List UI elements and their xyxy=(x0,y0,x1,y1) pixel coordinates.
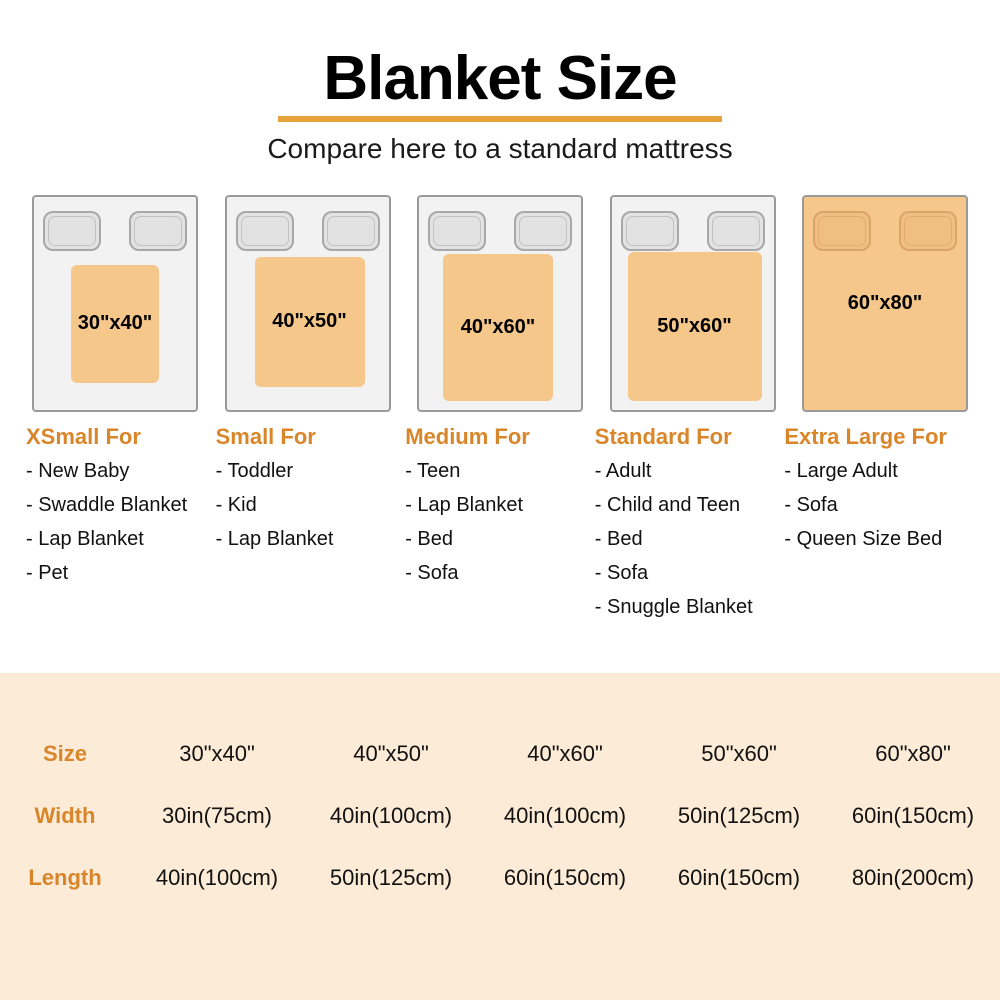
bed-column-extra-large: 60"x80" xyxy=(796,195,974,412)
table-row: Size 30"x40" 40"x50" 40"x60" 50"x60" 60"… xyxy=(0,723,1000,785)
table-row: Width 30in(75cm) 40in(100cm) 40in(100cm)… xyxy=(0,785,1000,847)
table-cell: 50in(125cm) xyxy=(304,847,478,909)
bed-column-medium: 40"x60" xyxy=(411,195,589,412)
description-column-extra-large: Extra Large For - Large Adult - Sofa - Q… xyxy=(784,424,974,630)
table-cell: 40in(100cm) xyxy=(130,847,304,909)
pillow-icon xyxy=(621,211,679,251)
list-item: - Snuggle Blanket xyxy=(595,596,785,619)
description-columns: XSmall For - New Baby - Swaddle Blanket … xyxy=(0,412,1000,630)
description-column-small: Small For - Toddler - Kid - Lap Blanket xyxy=(216,424,406,630)
pillow-icon xyxy=(514,211,572,251)
list-item: - Child and Teen xyxy=(595,494,785,517)
mattress-medium: 40"x60" xyxy=(417,195,583,412)
bed-column-xsmall: 30"x40" xyxy=(26,195,204,412)
pillow-icon xyxy=(236,211,294,251)
blanket-standard: 50"x60" xyxy=(628,252,762,401)
pillow-icon xyxy=(43,211,101,251)
table-cell: 60in(150cm) xyxy=(478,847,652,909)
row-label-size: Size xyxy=(0,723,130,785)
list-item: - Teen xyxy=(405,460,595,483)
list-item: - Lap Blanket xyxy=(216,528,406,551)
blanket-medium: 40"x60" xyxy=(443,254,553,401)
list-item: - Swaddle Blanket xyxy=(26,494,216,517)
column-heading: Medium For xyxy=(405,424,595,450)
mattress-extra-large: 60"x80" xyxy=(802,195,968,412)
pillow-icon xyxy=(707,211,765,251)
page-subtitle: Compare here to a standard mattress xyxy=(0,134,1000,165)
table-cell: 50in(125cm) xyxy=(652,785,826,847)
description-column-medium: Medium For - Teen - Lap Blanket - Bed - … xyxy=(405,424,595,630)
mattress-small: 40"x50" xyxy=(225,195,391,412)
blanket-size-label: 50"x60" xyxy=(657,315,732,338)
list-item: - Kid xyxy=(216,494,406,517)
list-item: - Large Adult xyxy=(784,460,974,483)
list-item: - Sofa xyxy=(405,562,595,585)
list-item: - Sofa xyxy=(784,494,974,517)
pillow-icon xyxy=(129,211,187,251)
list-item: - Sofa xyxy=(595,562,785,585)
table-cell: 30"x40" xyxy=(130,723,304,785)
spec-table: Size 30"x40" 40"x50" 40"x60" 50"x60" 60"… xyxy=(0,723,1000,909)
title-underline-rule xyxy=(278,116,722,122)
list-item: - Adult xyxy=(595,460,785,483)
column-heading: Standard For xyxy=(595,424,785,450)
spec-panel: Size 30"x40" 40"x50" 40"x60" 50"x60" 60"… xyxy=(0,673,1000,1000)
list-item: - Queen Size Bed xyxy=(784,528,974,551)
blanket-small: 40"x50" xyxy=(255,257,365,387)
list-item: - Lap Blanket xyxy=(26,528,216,551)
header: Blanket Size Compare here to a standard … xyxy=(0,0,1000,165)
pillow-icon xyxy=(322,211,380,251)
table-cell: 40in(100cm) xyxy=(304,785,478,847)
blanket-size-label: 30"x40" xyxy=(78,312,153,335)
table-cell: 60"x80" xyxy=(826,723,1000,785)
mattress-standard: 50"x60" xyxy=(610,195,776,412)
column-heading: Small For xyxy=(216,424,406,450)
table-cell: 40"x60" xyxy=(478,723,652,785)
table-row: Length 40in(100cm) 50in(125cm) 60in(150c… xyxy=(0,847,1000,909)
column-heading: Extra Large For xyxy=(784,424,974,450)
bed-column-standard: 50"x60" xyxy=(604,195,782,412)
table-cell: 80in(200cm) xyxy=(826,847,1000,909)
table-cell: 60in(150cm) xyxy=(652,847,826,909)
list-item: - New Baby xyxy=(26,460,216,483)
blanket-xsmall: 30"x40" xyxy=(71,265,159,383)
pillow-icon xyxy=(428,211,486,251)
list-item: - Lap Blanket xyxy=(405,494,595,517)
row-label-width: Width xyxy=(0,785,130,847)
description-column-xsmall: XSmall For - New Baby - Swaddle Blanket … xyxy=(26,424,216,630)
row-label-length: Length xyxy=(0,847,130,909)
list-item: - Toddler xyxy=(216,460,406,483)
list-item: - Bed xyxy=(405,528,595,551)
table-cell: 40"x50" xyxy=(304,723,478,785)
table-cell: 50"x60" xyxy=(652,723,826,785)
blanket-size-label: 40"x50" xyxy=(272,310,347,333)
table-cell: 60in(150cm) xyxy=(826,785,1000,847)
blanket-size-label: 60"x80" xyxy=(848,292,923,315)
mattress-xsmall: 30"x40" xyxy=(32,195,198,412)
column-heading: XSmall For xyxy=(26,424,216,450)
list-item: - Bed xyxy=(595,528,785,551)
list-item: - Pet xyxy=(26,562,216,585)
table-cell: 40in(100cm) xyxy=(478,785,652,847)
description-column-standard: Standard For - Adult - Child and Teen - … xyxy=(595,424,785,630)
page-title: Blanket Size xyxy=(0,48,1000,110)
bed-diagram-row: 30"x40" 40"x50" 40"x60" 50"x60" xyxy=(0,165,1000,412)
blanket-extra-large: 60"x80" xyxy=(804,197,966,410)
bed-column-small: 40"x50" xyxy=(219,195,397,412)
blanket-size-label: 40"x60" xyxy=(461,316,536,339)
table-cell: 30in(75cm) xyxy=(130,785,304,847)
